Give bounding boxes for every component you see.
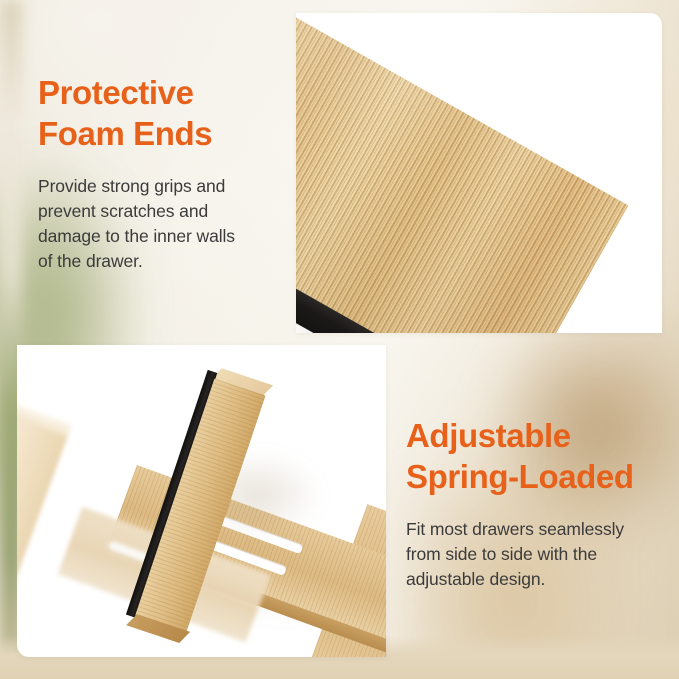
feature-headline-spring-loaded: Adjustable Spring-Loaded bbox=[406, 415, 656, 497]
bamboo-board bbox=[296, 13, 628, 333]
feature-image-panel-spring-loaded bbox=[17, 345, 386, 657]
feature-body-spring-loaded: Fit most drawers seamlessly from side to… bbox=[406, 517, 656, 592]
bamboo-board-photo bbox=[296, 13, 662, 333]
feature-text-spring-loaded: Adjustable Spring-Loaded Fit most drawer… bbox=[406, 415, 656, 592]
feature-image-panel-foam-ends bbox=[296, 13, 662, 333]
feature-headline-foam-ends: Protective Foam Ends bbox=[38, 72, 288, 154]
board-top-surface bbox=[296, 13, 628, 333]
feature-body-foam-ends: Provide strong grips and prevent scratch… bbox=[38, 174, 288, 274]
infographic-canvas: Protective Foam Ends Provide strong grip… bbox=[0, 0, 679, 679]
feature-text-foam-ends: Protective Foam Ends Provide strong grip… bbox=[38, 72, 288, 274]
divider-mechanism-photo bbox=[17, 345, 386, 657]
